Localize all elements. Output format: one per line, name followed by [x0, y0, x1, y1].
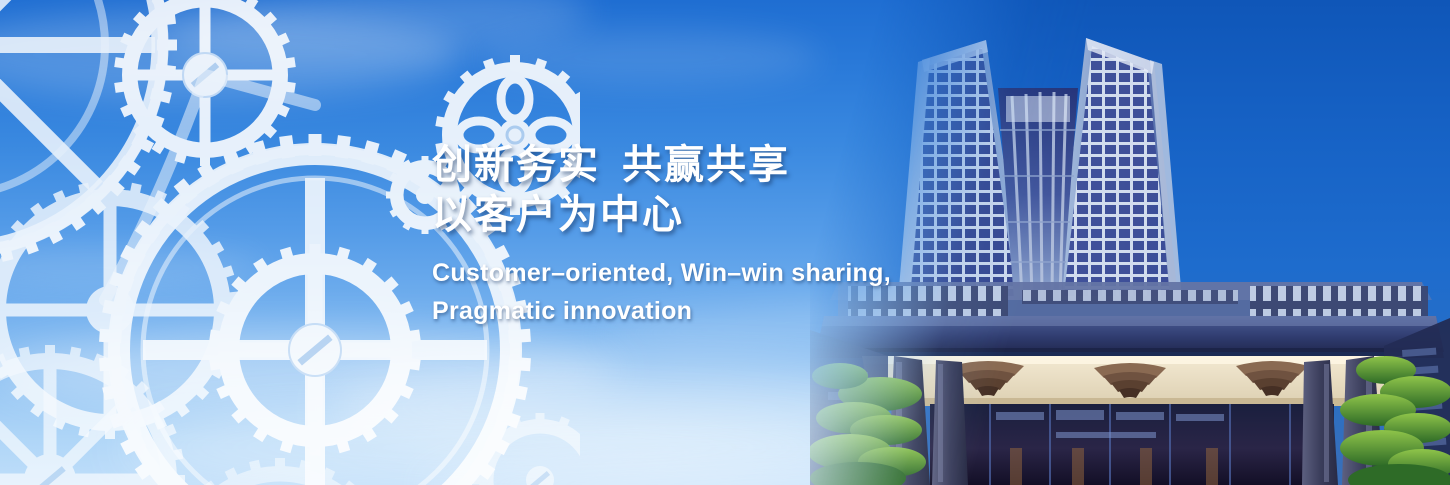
tagline-line-1: Customer–oriented, Win–win sharing,: [432, 254, 952, 292]
headline-part-2: 共赢共享: [622, 143, 790, 187]
banner-copy: 创新务实共赢共享 以客户为中心 Customer–oriented, Win–w…: [432, 140, 952, 330]
page-subtitle: 以客户为中心: [432, 190, 952, 240]
hero-banner: 创新务实共赢共享 以客户为中心 Customer–oriented, Win–w…: [0, 0, 1450, 485]
page-title: 创新务实共赢共享: [432, 140, 952, 190]
headline-part-1: 创新务实: [432, 143, 600, 187]
cloud-wisp: [480, 30, 820, 85]
tagline-line-2: Pragmatic innovation: [432, 292, 952, 330]
